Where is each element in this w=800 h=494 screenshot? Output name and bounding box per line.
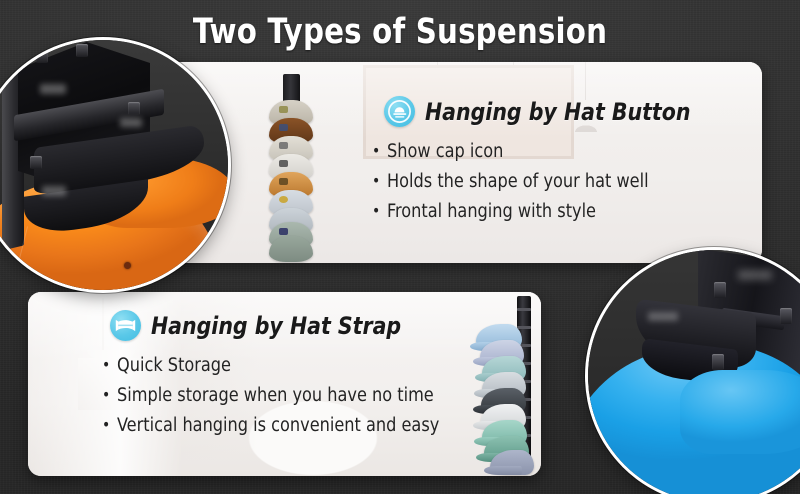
- black-clip-with-blue-cap-photo: [588, 250, 800, 494]
- cap-item: [269, 236, 313, 262]
- specular-glint: [42, 186, 66, 196]
- card-hat-strap: Hanging by Hat Strap Quick Storage Simpl…: [28, 292, 541, 476]
- list-item: Quick Storage: [102, 350, 439, 380]
- mount-hole: [780, 308, 792, 324]
- specular-glint: [738, 270, 772, 280]
- specular-glint: [648, 312, 678, 321]
- mount-hole: [36, 50, 48, 63]
- card-heading: Hanging by Hat Strap: [151, 312, 401, 340]
- specular-glint: [120, 118, 142, 127]
- cap-logo: [279, 196, 288, 203]
- cap-logo: [279, 124, 288, 131]
- list-item: Frontal hanging with style: [372, 196, 649, 226]
- list-item: Simple storage when you have no time: [102, 380, 439, 410]
- card-heading: Hanging by Hat Button: [425, 98, 690, 126]
- specular-glint: [40, 84, 66, 94]
- card-header-hat-button: Hanging by Hat Button: [384, 96, 704, 127]
- list-item: Vertical hanging is convenient and easy: [102, 410, 439, 440]
- front-facing-cap-stack-photo: [261, 62, 321, 263]
- cap-front-icon: [384, 96, 415, 127]
- cap-logo: [279, 106, 288, 113]
- cap-logo: [279, 142, 288, 149]
- infographic-canvas: Two Types of Suspension: [0, 0, 800, 494]
- feature-list-hat-strap: Quick Storage Simple storage when you ha…: [102, 350, 450, 440]
- cap-brim: [484, 466, 522, 475]
- mount-hole: [76, 44, 88, 57]
- black-hanger-with-orange-cap-photo: [0, 40, 228, 290]
- blue-cap-brim: [680, 370, 800, 454]
- hat-strap-icon: [110, 310, 141, 341]
- cap-logo: [279, 160, 288, 167]
- list-item: Show cap icon: [372, 136, 649, 166]
- mount-hole: [30, 156, 42, 169]
- rail-slot: [517, 308, 531, 311]
- card-header-hat-strap: Hanging by Hat Strap: [110, 310, 414, 341]
- feature-list-hat-button: Show cap icon Holds the shape of your ha…: [372, 136, 657, 226]
- cap-grommet: [124, 262, 131, 269]
- cap-logo: [279, 228, 288, 235]
- mount-hole: [128, 102, 140, 115]
- rail-slot: [517, 326, 531, 329]
- list-item: Holds the shape of your hat well: [372, 166, 649, 196]
- cap-logo: [279, 178, 288, 185]
- side-profile-cap-stack-photo: [468, 292, 541, 476]
- mount-hole: [712, 354, 724, 370]
- mount-hole: [714, 282, 726, 298]
